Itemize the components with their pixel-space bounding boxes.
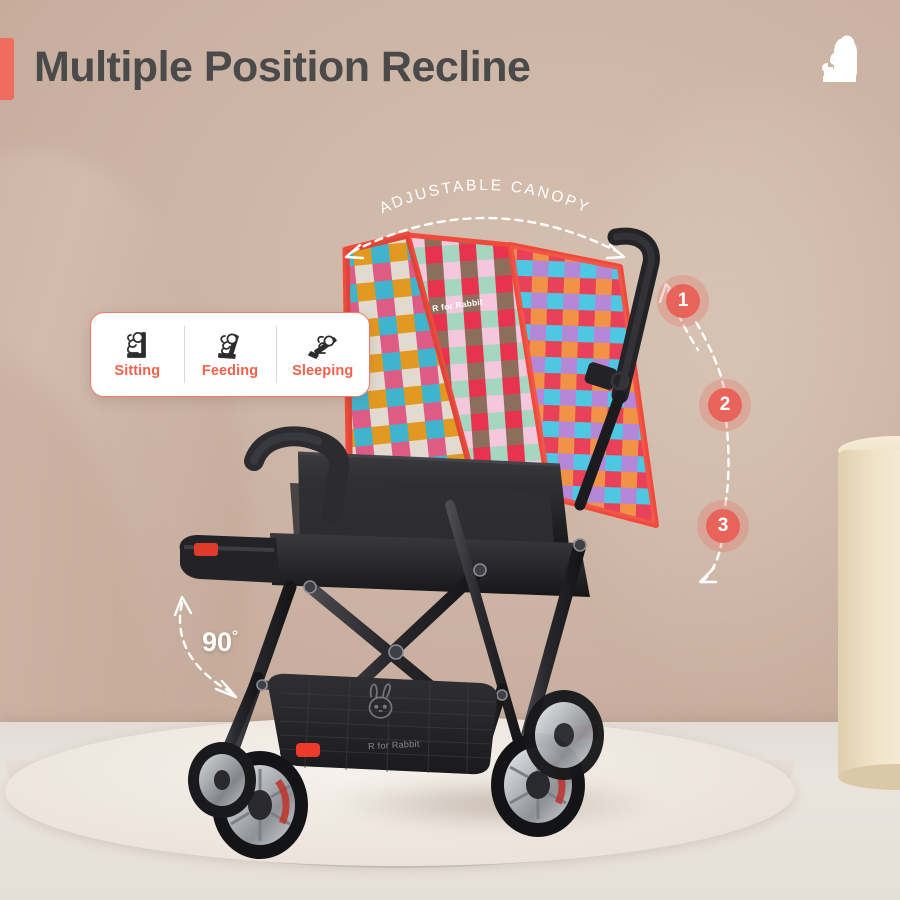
title-accent-bar bbox=[0, 38, 14, 100]
recline-step-badge-2[interactable]: 2 bbox=[708, 388, 742, 422]
baby-seat-semi-recline-icon bbox=[211, 330, 249, 360]
baby-seat-flat-icon bbox=[304, 330, 342, 360]
wheel-front-rear-pair bbox=[524, 690, 604, 780]
position-label-feeding: Feeding bbox=[202, 363, 258, 379]
cylinder-pedestal bbox=[838, 450, 900, 780]
position-label-sitting: Sitting bbox=[114, 363, 160, 379]
product-feature-scene: Multiple Position Recline bbox=[0, 0, 900, 900]
position-label-sleeping: Sleeping bbox=[292, 363, 353, 379]
brake-tab-front bbox=[296, 743, 320, 757]
page-title: Multiple Position Recline bbox=[34, 38, 530, 96]
recline-positions-card: Sitting bbox=[90, 312, 370, 397]
recline-step-badge-1[interactable]: 1 bbox=[666, 284, 700, 318]
position-item-sitting[interactable]: Sitting bbox=[91, 313, 184, 396]
storage-basket bbox=[268, 674, 497, 774]
baby-in-seat-icon bbox=[814, 30, 868, 86]
stroller-product-image bbox=[150, 215, 710, 835]
position-item-sleeping[interactable]: Sleeping bbox=[276, 313, 369, 396]
recline-step-badge-3[interactable]: 3 bbox=[706, 509, 740, 543]
baby-seat-upright-icon bbox=[118, 330, 156, 360]
wheel-caster-front bbox=[188, 742, 256, 818]
position-item-feeding[interactable]: Feeding bbox=[184, 313, 277, 396]
